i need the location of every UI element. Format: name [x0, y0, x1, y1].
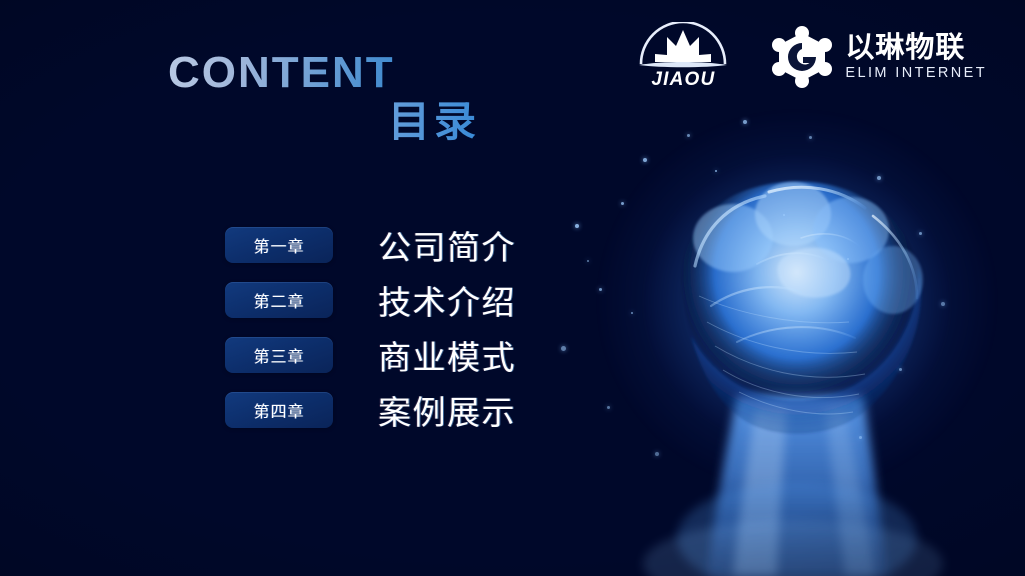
hex-node-g-icon: [771, 26, 833, 88]
list-item[interactable]: 第三章 商业模式: [225, 332, 516, 378]
chapter-title-2[interactable]: 技术介绍: [378, 276, 516, 324]
logo-jiaou-wordmark: JIAOU: [651, 69, 715, 91]
chapter-title-3[interactable]: 商业模式: [378, 331, 516, 379]
sunburst-arc-icon: [633, 22, 733, 68]
logo-jiaou: JIAOU: [631, 22, 735, 91]
list-item[interactable]: 第四章 案例展示: [225, 387, 516, 433]
list-item[interactable]: 第二章 技术介绍: [225, 277, 516, 323]
logo-elim-cn: 以琳物联: [845, 32, 987, 62]
chapter-title-4[interactable]: 案例展示: [378, 386, 516, 434]
presentation-slide: JIAOU 以琳物联 ELIM INTERNET: [0, 0, 1025, 576]
page-title: CONTENT 目录: [168, 50, 498, 145]
logo-elim-text: 以琳物联 ELIM INTERNET: [845, 32, 987, 80]
chapter-title-1[interactable]: 公司简介: [378, 221, 516, 269]
chapter-tag-2[interactable]: 第二章: [225, 282, 333, 318]
header-logos: JIAOU 以琳物联 ELIM INTERNET: [631, 22, 987, 91]
chapter-tag-1[interactable]: 第一章: [225, 227, 333, 263]
chapter-tag-label: 第三章: [253, 343, 304, 367]
chapter-list: 第一章 公司简介 第二章 技术介绍 第三章 商业模式 第四章 案例展示: [225, 222, 516, 433]
logo-elim: 以琳物联 ELIM INTERNET: [771, 26, 987, 88]
chapter-tag-label: 第二章: [253, 288, 304, 312]
chapter-tag-3[interactable]: 第三章: [225, 337, 333, 373]
title-chinese: 目录: [168, 98, 498, 145]
logo-elim-en: ELIM INTERNET: [845, 65, 987, 81]
title-english: CONTENT: [168, 50, 498, 96]
chapter-tag-label: 第一章: [253, 233, 304, 257]
chapter-tag-label: 第四章: [253, 398, 304, 422]
list-item[interactable]: 第一章 公司简介: [225, 222, 516, 268]
chapter-tag-4[interactable]: 第四章: [225, 392, 333, 428]
